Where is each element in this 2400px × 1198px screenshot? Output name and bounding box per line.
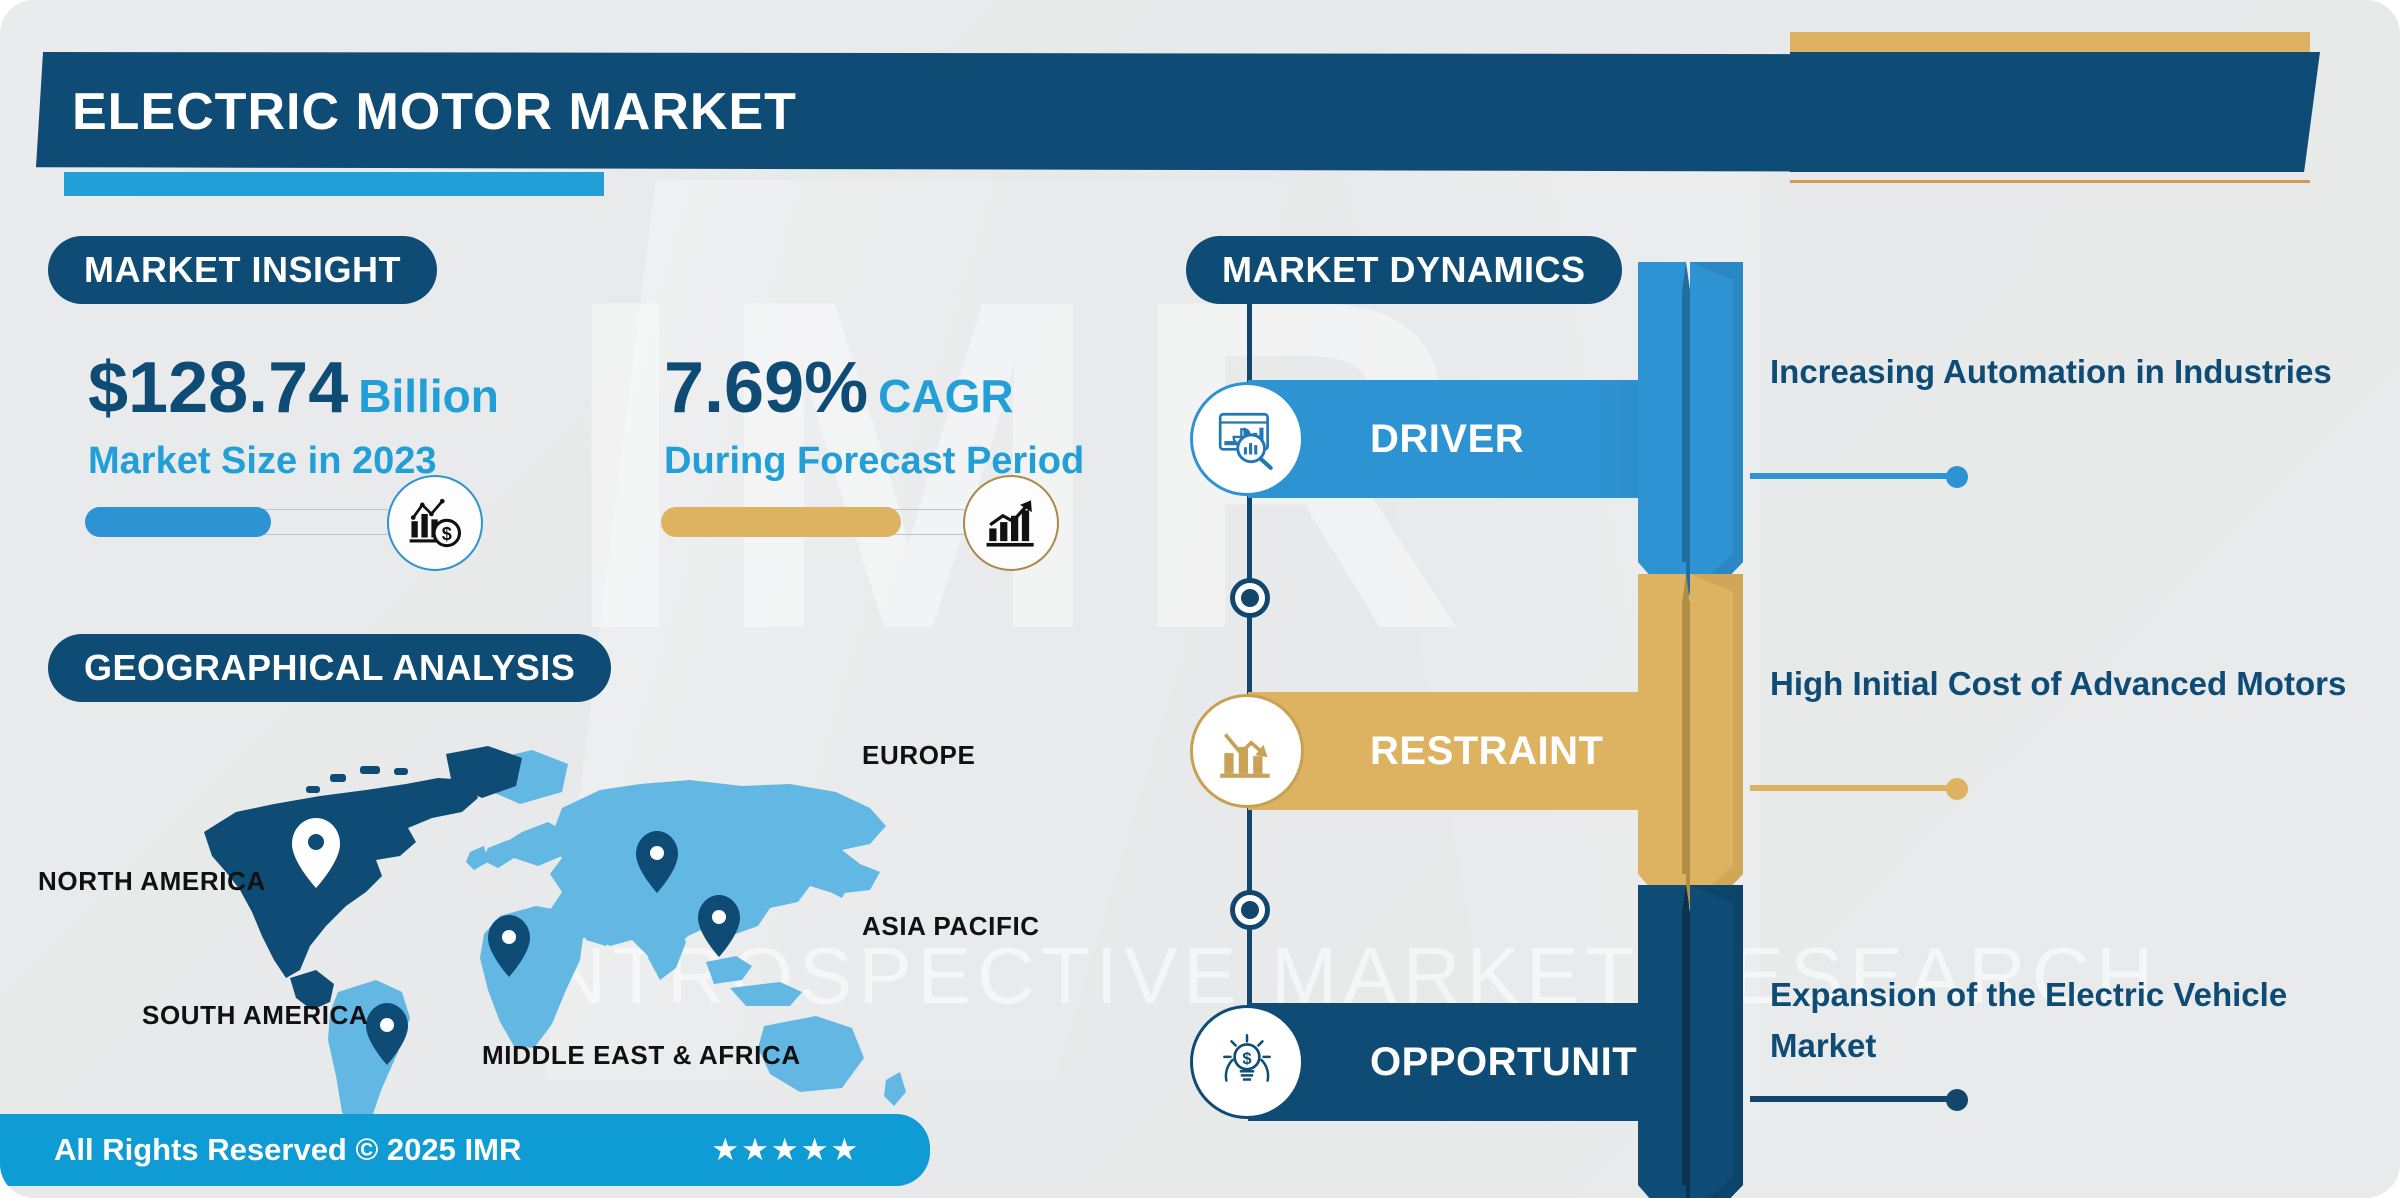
market-insight-label: MARKET INSIGHT xyxy=(84,249,401,291)
map-label-middle-east-africa: MIDDLE EAST & AFRICA xyxy=(482,1040,801,1071)
kpi-market-size-unit: Billion xyxy=(358,370,499,422)
driver-chip[interactable]: DRIVER xyxy=(1248,380,1698,498)
opportunity-connector-dot xyxy=(1946,1089,1968,1111)
restraint-connector xyxy=(1750,785,1958,791)
header-gold-underline xyxy=(1790,180,2310,183)
map-label-europe: EUROPE xyxy=(862,740,975,771)
restraint-arrow-shape xyxy=(1638,574,1743,929)
kpi-market-size-value-row: $128.74Billion xyxy=(88,352,499,424)
presentation-analytics-icon xyxy=(1190,382,1304,496)
lightbulb-dollar-icon: $ xyxy=(1190,1005,1304,1119)
kpi-cagr-unit: CAGR xyxy=(878,370,1013,422)
market-dynamics-label: MARKET DYNAMICS xyxy=(1222,249,1586,291)
kpi-market-size-value: $128.74 xyxy=(88,348,348,428)
footer-bar: All Rights Reserved © 2025 IMR ★★★★★ xyxy=(0,1114,930,1186)
header-blue-underline xyxy=(64,172,604,196)
section-heading-market-dynamics: MARKET DYNAMICS xyxy=(1186,236,1622,304)
declining-bar-chart-icon xyxy=(1190,694,1304,808)
opportunity-connector xyxy=(1750,1096,1958,1102)
opportunity-arrow-shape xyxy=(1638,885,1743,1198)
kpi-cagr: 7.69%CAGR During Forecast Period xyxy=(664,352,1084,535)
opportunity-label: OPPORTUNITY xyxy=(1370,1040,1664,1085)
progress-fill xyxy=(661,507,901,537)
driver-description: Increasing Automation in Industries xyxy=(1770,346,2370,397)
opportunity-chip[interactable]: OPPORTUNITY xyxy=(1248,1003,1698,1121)
driver-arrow-shape xyxy=(1638,262,1743,617)
restraint-connector-dot xyxy=(1946,778,1968,800)
timeline-node xyxy=(1230,578,1270,618)
bar-chart-dollar-icon: $ xyxy=(387,475,483,571)
driver-label: DRIVER xyxy=(1370,417,1524,462)
opportunity-description: Expansion of the Electric Vehicle Market xyxy=(1770,969,2370,1071)
restraint-label: RESTRAINT xyxy=(1370,729,1603,774)
growth-chart-arrow-icon xyxy=(963,475,1059,571)
section-heading-geographical-analysis: GEOGRAPHICAL ANALYSIS xyxy=(48,634,611,702)
timeline-node xyxy=(1230,890,1270,930)
kpi-market-size: $128.74Billion Market Size in 2023 $ xyxy=(88,352,499,535)
kpi-market-size-progress: $ xyxy=(88,509,398,535)
kpi-cagr-progress xyxy=(664,509,974,535)
svg-text:$: $ xyxy=(1242,1050,1251,1068)
page-title: ELECTRIC MOTOR MARKET xyxy=(72,82,797,142)
geographical-analysis-label: GEOGRAPHICAL ANALYSIS xyxy=(84,647,575,689)
driver-connector-dot xyxy=(1946,466,1968,488)
world-map xyxy=(170,740,1070,1160)
infographic-canvas: IMR INTROSPECTIVE MARKET RESEARCH ELECTR… xyxy=(0,0,2400,1198)
restraint-chip[interactable]: RESTRAINT xyxy=(1248,692,1698,810)
map-pin-asia-pacific xyxy=(698,895,740,957)
map-label-north-america: NORTH AMERICA xyxy=(38,866,266,897)
map-label-asia-pacific: ASIA PACIFIC xyxy=(862,911,1040,942)
restraint-description: High Initial Cost of Advanced Motors xyxy=(1770,658,2370,709)
kpi-cagr-value: 7.69% xyxy=(664,348,868,428)
section-heading-market-insight: MARKET INSIGHT xyxy=(48,236,437,304)
map-label-south-america: SOUTH AMERICA xyxy=(142,1000,368,1031)
driver-connector xyxy=(1750,473,1958,479)
rating-stars: ★★★★★ xyxy=(711,1132,860,1168)
svg-text:$: $ xyxy=(442,524,452,544)
kpi-cagr-value-row: 7.69%CAGR xyxy=(664,352,1084,424)
copyright-text: All Rights Reserved © 2025 IMR xyxy=(54,1132,521,1168)
progress-fill xyxy=(85,507,271,537)
